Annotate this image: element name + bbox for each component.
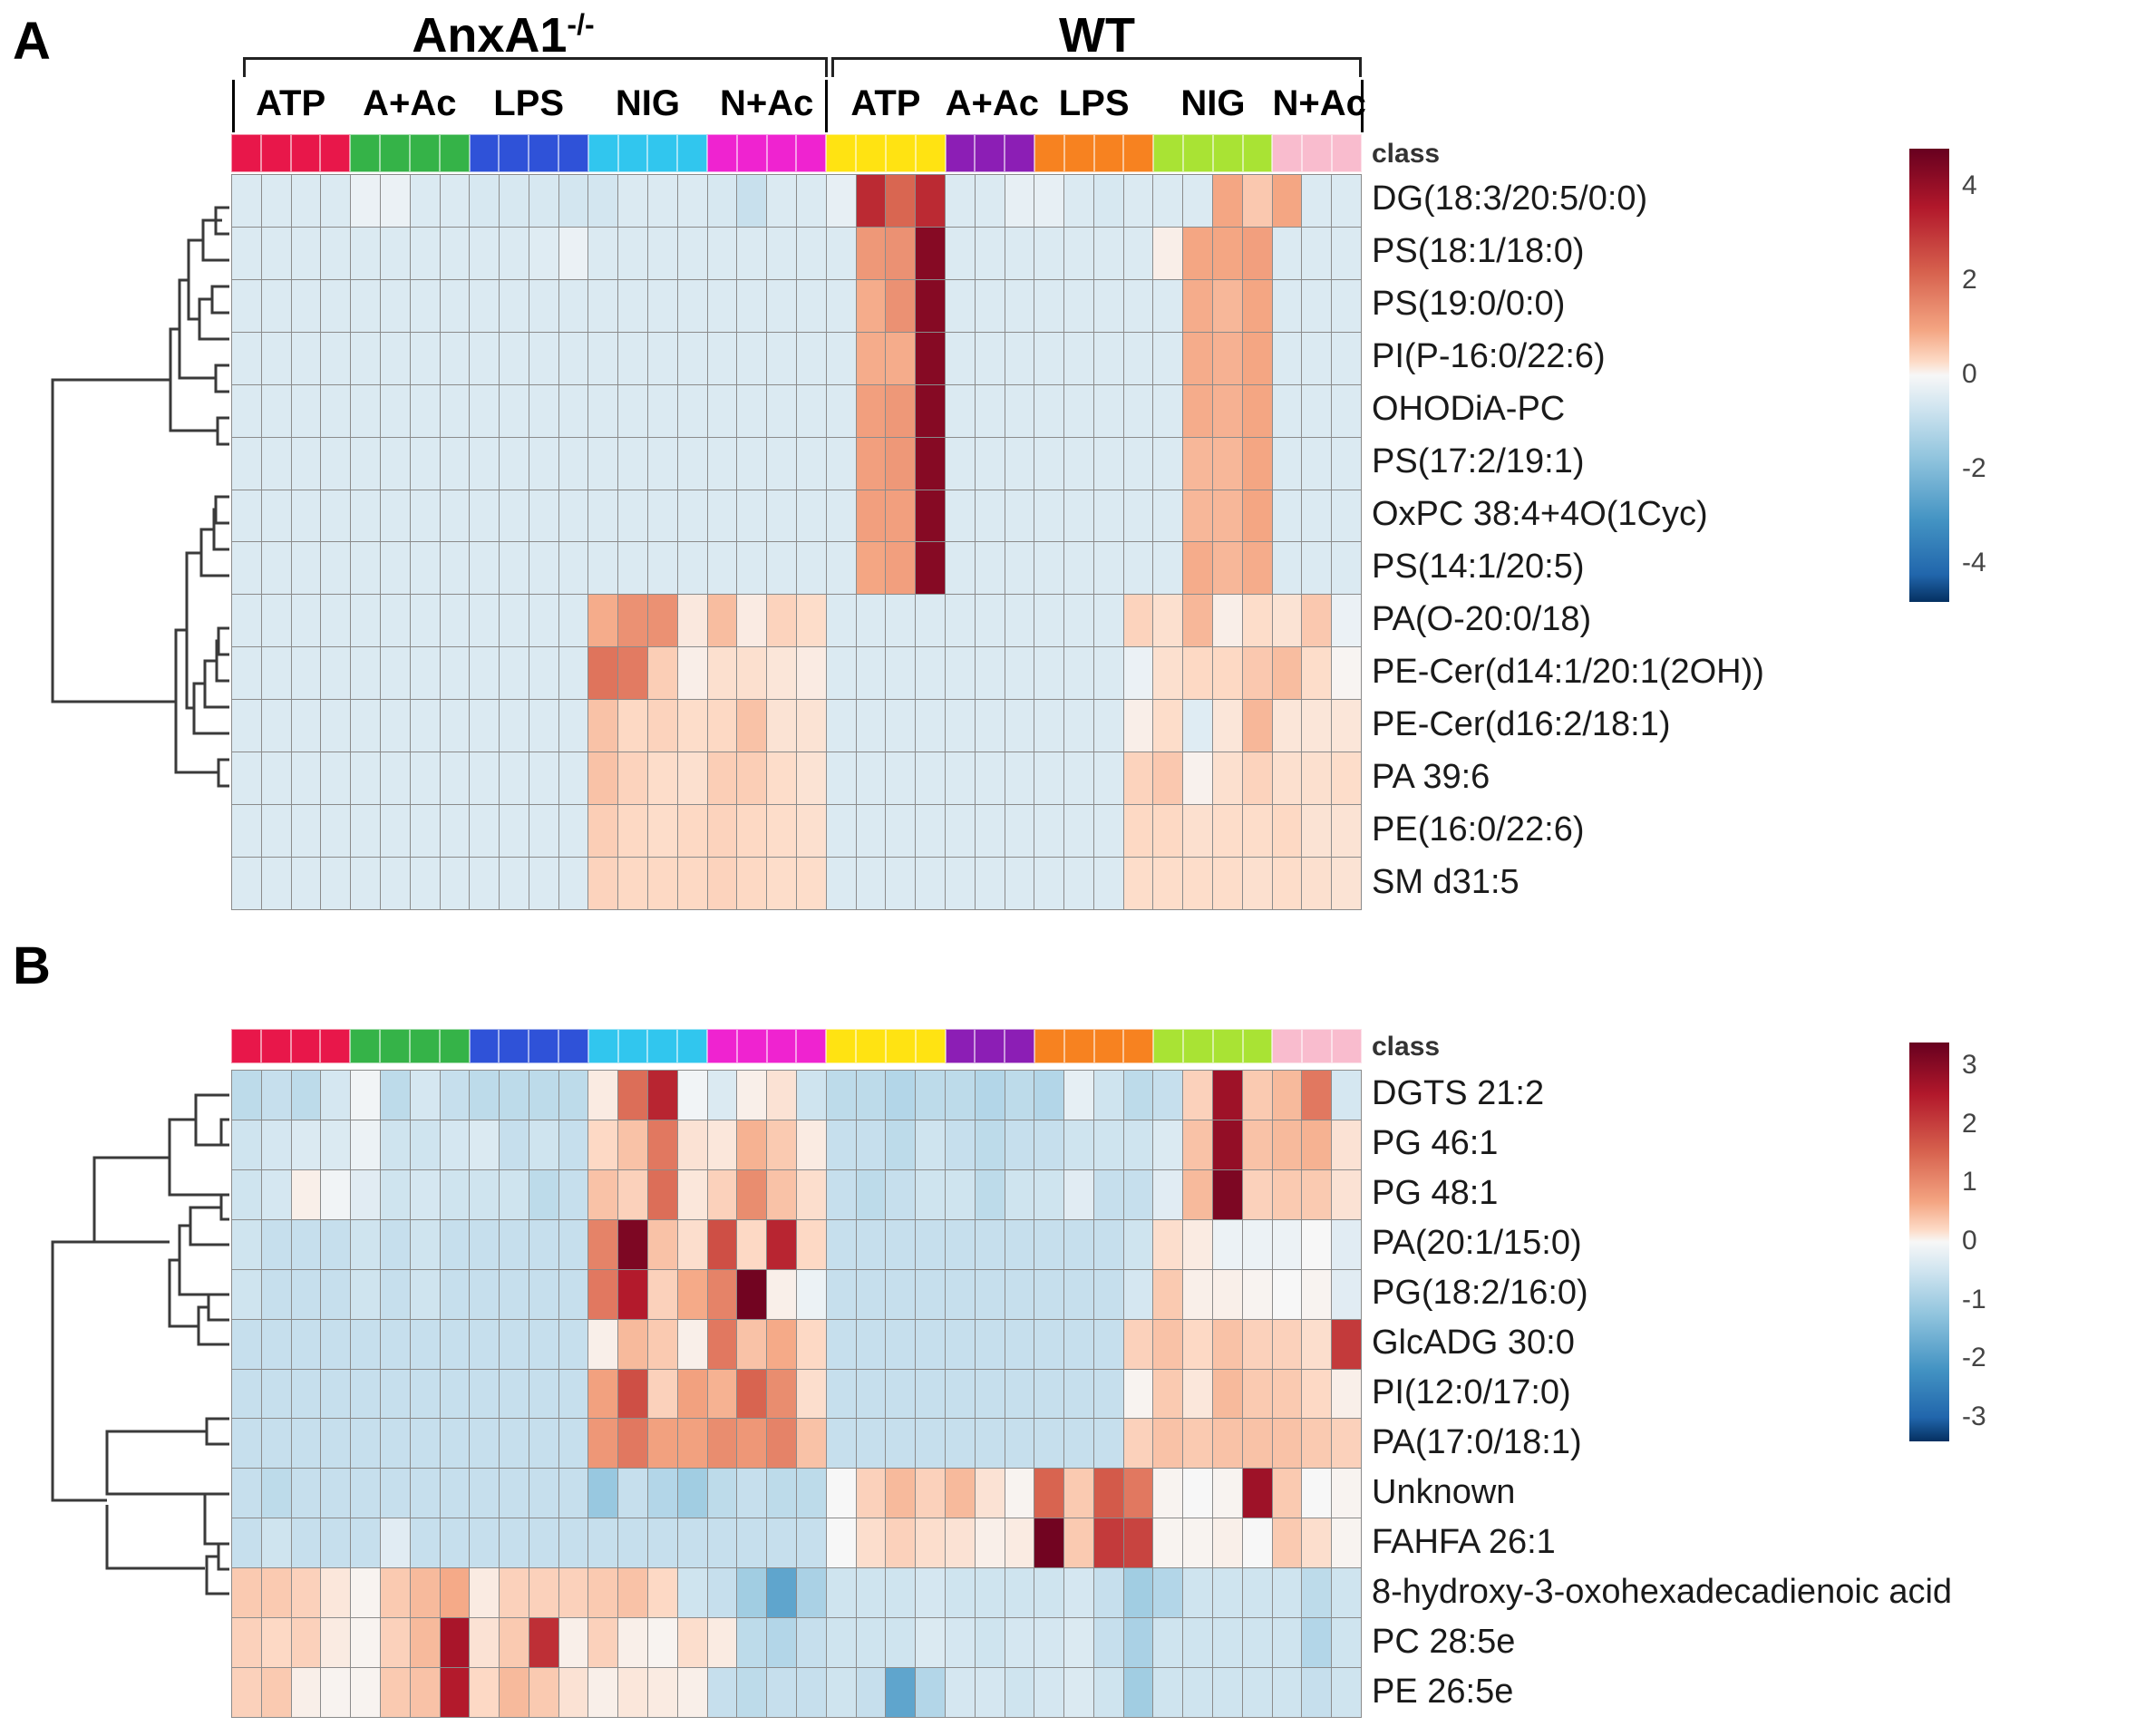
heatmap-cell [708, 542, 737, 594]
heatmap-cell [946, 490, 975, 542]
heatmap-cell [827, 1370, 856, 1419]
heatmap-cell [797, 333, 826, 384]
heatmap-cell [1094, 1370, 1123, 1419]
heatmap-cell [737, 542, 766, 594]
heatmap-cell [1094, 1469, 1123, 1518]
heatmap-cell [1005, 595, 1034, 646]
heatmap-cell [559, 1320, 588, 1369]
heatmap-cell [886, 1370, 915, 1419]
heatmap-cell [1094, 175, 1123, 227]
heatmap-cell [648, 1170, 677, 1219]
heatmap-cell [976, 1370, 1005, 1419]
heatmap-cell [1034, 1469, 1063, 1518]
heatmap-cell [1034, 1220, 1063, 1269]
heatmap-cell [1005, 858, 1034, 909]
class-swatch-AnxA1-nplusac [737, 1029, 767, 1063]
heatmap-cell [1005, 228, 1034, 279]
heatmap-cell [470, 1071, 499, 1120]
heatmap-cell [1005, 805, 1034, 857]
heatmap-cell [1034, 1270, 1063, 1319]
heatmap-cell [588, 1419, 617, 1468]
heatmap-cell [500, 280, 529, 332]
heatmap-cell [292, 228, 321, 279]
heatmap-a [231, 174, 1362, 910]
heatmap-cell [1005, 175, 1034, 227]
heatmap-cell [1124, 1618, 1153, 1667]
heatmap-cell [648, 175, 677, 227]
class-swatch-AnxA1-aplusac [440, 134, 470, 172]
heatmap-cell [1273, 752, 1302, 804]
heatmap-cell [708, 647, 737, 699]
heatmap-cell [321, 228, 350, 279]
heatmap-cell [648, 752, 677, 804]
heatmap-cell [559, 1469, 588, 1518]
heatmap-cell [262, 1220, 291, 1269]
heatmap-cell [1183, 175, 1212, 227]
heatmap-cell [381, 1220, 410, 1269]
heatmap-cell [292, 752, 321, 804]
heatmap-cell [618, 1469, 647, 1518]
heatmap-cell [857, 1170, 886, 1219]
heatmap-cell [618, 1071, 647, 1120]
heatmap-cell [886, 1518, 915, 1567]
heatmap-cell [618, 542, 647, 594]
heatmap-cell [411, 490, 440, 542]
heatmap-cell [1153, 1120, 1182, 1169]
heatmap-cell [529, 280, 558, 332]
heatmap-cell [588, 858, 617, 909]
heatmap-cell [857, 1618, 886, 1667]
heatmap-cell [827, 1618, 856, 1667]
heatmap-cell [500, 805, 529, 857]
heatmap-cell [321, 595, 350, 646]
heatmap-cell [1332, 1220, 1361, 1269]
heatmap-cell [232, 1419, 261, 1468]
heatmap-cell [500, 1419, 529, 1468]
heatmap-cell [262, 752, 291, 804]
heatmap-cell [886, 438, 915, 490]
heatmap-cell [321, 647, 350, 699]
heatmap-cell [1302, 175, 1331, 227]
heatmap-cell [1064, 647, 1093, 699]
heatmap-cell [441, 438, 470, 490]
heatmap-cell [292, 1419, 321, 1468]
heatmap-cell [381, 1370, 410, 1419]
heatmap-cell [708, 333, 737, 384]
heatmap-cell [827, 647, 856, 699]
heatmap-cell [678, 542, 707, 594]
heatmap-cell [708, 385, 737, 437]
heatmap-cell [588, 700, 617, 752]
class-swatch-WT-aplusac [946, 1029, 976, 1063]
heatmap-cell [1243, 1370, 1272, 1419]
row-label: DGTS 21:2 [1372, 1076, 1544, 1110]
heatmap-cell [1332, 1071, 1361, 1120]
heatmap-cell [648, 1320, 677, 1369]
heatmap-cell [737, 1220, 766, 1269]
heatmap-cell [262, 1469, 291, 1518]
heatmap-cell [262, 858, 291, 909]
heatmap-cell [797, 1419, 826, 1468]
heatmap-cell [1094, 333, 1123, 384]
heatmap-cell [946, 1320, 975, 1369]
class-swatch-AnxA1-nig [677, 134, 707, 172]
heatmap-cell [381, 438, 410, 490]
heatmap-cell [262, 1270, 291, 1319]
heatmap-cell [1124, 1419, 1153, 1468]
heatmap-cell [441, 385, 470, 437]
heatmap-cell [588, 1568, 617, 1617]
heatmap-cell [827, 1469, 856, 1518]
heatmap-cell [1124, 490, 1153, 542]
heatmap-cell [737, 858, 766, 909]
heatmap-cell [1124, 1120, 1153, 1169]
heatmap-cell [618, 752, 647, 804]
class-swatch-AnxA1-nig [647, 1029, 677, 1063]
heatmap-cell [559, 1518, 588, 1567]
heatmap-cell [470, 1618, 499, 1667]
heatmap-cell [1005, 280, 1034, 332]
heatmap-cell [232, 490, 261, 542]
heatmap-cell [529, 228, 558, 279]
heatmap-cell [1153, 438, 1182, 490]
row-label: OxPC 38:4+4O(1Cyc) [1372, 497, 1708, 531]
class-swatch-AnxA1-aplusac [380, 134, 410, 172]
heatmap-cell [441, 542, 470, 594]
heatmap-cell [411, 175, 440, 227]
heatmap-cell [1153, 647, 1182, 699]
heatmap-cell [1302, 1618, 1331, 1667]
heatmap-cell [529, 647, 558, 699]
heatmap-cell [827, 175, 856, 227]
heatmap-cell [1094, 858, 1123, 909]
heatmap-cell [946, 1518, 975, 1567]
heatmap-cell [1124, 752, 1153, 804]
heatmap-cell [1273, 1270, 1302, 1319]
heatmap-cell [1064, 333, 1093, 384]
heatmap-cell [1064, 805, 1093, 857]
heatmap-cell [1153, 1518, 1182, 1567]
heatmap-cell [411, 1370, 440, 1419]
heatmap-cell [1183, 1568, 1212, 1617]
row-label: Unknown [1372, 1475, 1515, 1509]
heatmap-cell [1064, 1618, 1093, 1667]
row-label: DG(18:3/20:5/0:0) [1372, 181, 1647, 216]
heatmap-cell [1064, 1469, 1093, 1518]
heatmap-cell [529, 1668, 558, 1717]
heatmap-cell [976, 1120, 1005, 1169]
heatmap-cell [1005, 385, 1034, 437]
heatmap-cell [1124, 1668, 1153, 1717]
heatmap-cell [708, 858, 737, 909]
row-label: GlcADG 30:0 [1372, 1325, 1575, 1360]
heatmap-cell [1213, 1419, 1242, 1468]
class-swatch-AnxA1-nig [618, 134, 648, 172]
heatmap-cell [1183, 1220, 1212, 1269]
heatmap-cell [1332, 1270, 1361, 1319]
heatmap-cell [1213, 1568, 1242, 1617]
heatmap-cell [767, 752, 796, 804]
heatmap-cell [946, 1170, 975, 1219]
heatmap-cell [946, 858, 975, 909]
heatmap-cell [1302, 1120, 1331, 1169]
class-swatch-AnxA1-nig [588, 134, 618, 172]
heatmap-cell [1094, 595, 1123, 646]
heatmap-cell [500, 1220, 529, 1269]
heatmap-cell [588, 1170, 617, 1219]
heatmap-cell [292, 542, 321, 594]
heatmap-cell [618, 385, 647, 437]
heatmap-cell [886, 700, 915, 752]
heatmap-cell [500, 1370, 529, 1419]
heatmap-cell [1332, 438, 1361, 490]
heatmap-cell [500, 385, 529, 437]
heatmap-cell [1332, 1120, 1361, 1169]
heatmap-cell [618, 647, 647, 699]
heatmap-cell [470, 438, 499, 490]
heatmap-cell [916, 333, 945, 384]
heatmap-cell [381, 647, 410, 699]
heatmap-cell [441, 805, 470, 857]
heatmap-cell [1034, 490, 1063, 542]
heatmap-cell [737, 490, 766, 542]
heatmap-cell [292, 1220, 321, 1269]
heatmap-cell [976, 280, 1005, 332]
heatmap-cell [1064, 490, 1093, 542]
heatmap-cell [470, 385, 499, 437]
heatmap-cell [351, 228, 380, 279]
heatmap-cell [737, 1568, 766, 1617]
heatmap-cell [648, 700, 677, 752]
heatmap-cell [1034, 595, 1063, 646]
colorbar-gradient-b [1909, 1043, 1949, 1441]
heatmap-cell [1153, 1469, 1182, 1518]
heatmap-cell [500, 858, 529, 909]
heatmap-cell [1124, 385, 1153, 437]
class-swatch-WT-lps [1064, 1029, 1094, 1063]
heatmap-cell [321, 1469, 350, 1518]
heatmap-cell [321, 1270, 350, 1319]
genotype-bracket-anxa1 [243, 57, 828, 77]
heatmap-cell [678, 1320, 707, 1369]
heatmap-cell [559, 805, 588, 857]
heatmap-cell [292, 805, 321, 857]
heatmap-cell [1332, 1518, 1361, 1567]
heatmap-cell [737, 752, 766, 804]
heatmap-cell [648, 858, 677, 909]
heatmap-cell [648, 490, 677, 542]
heatmap-cell [321, 542, 350, 594]
heatmap-cell [232, 1469, 261, 1518]
heatmap-cell [1124, 542, 1153, 594]
heatmap-cell [767, 858, 796, 909]
heatmap-cell [886, 175, 915, 227]
heatmap-cell [708, 700, 737, 752]
heatmap-cell [946, 385, 975, 437]
heatmap-cell [1243, 805, 1272, 857]
heatmap-cell [470, 1419, 499, 1468]
heatmap-cell [1124, 1469, 1153, 1518]
heatmap-cell [1183, 858, 1212, 909]
heatmap-cell [1124, 1220, 1153, 1269]
heatmap-cell [588, 1270, 617, 1319]
heatmap-cell [351, 1518, 380, 1567]
heatmap-cell [737, 1120, 766, 1169]
heatmap-cell [1332, 805, 1361, 857]
heatmap-cell [648, 1270, 677, 1319]
heatmap-cell [470, 1568, 499, 1617]
heatmap-cell [1213, 1120, 1242, 1169]
heatmap-cell [1124, 280, 1153, 332]
heatmap-cell [351, 595, 380, 646]
heatmap-cell [1183, 752, 1212, 804]
heatmap-cell [262, 175, 291, 227]
heatmap-cell [767, 1518, 796, 1567]
heatmap-cell [797, 385, 826, 437]
heatmap-cell [500, 1320, 529, 1369]
heatmap-cell [470, 228, 499, 279]
class-swatch-AnxA1-lps [558, 1029, 588, 1063]
heatmap-cell [857, 175, 886, 227]
class-swatch-WT-nplusac [1332, 134, 1362, 172]
heatmap-cell [1273, 385, 1302, 437]
heatmap-cell [1273, 858, 1302, 909]
heatmap-cell [1153, 1419, 1182, 1468]
heatmap-cell [381, 1120, 410, 1169]
heatmap-cell [678, 1120, 707, 1169]
heatmap-cell [1034, 228, 1063, 279]
heatmap-cell [1183, 490, 1212, 542]
colorbar-gradient-a [1909, 149, 1949, 602]
heatmap-cell [648, 1668, 677, 1717]
class-swatch-AnxA1-lps [529, 134, 558, 172]
heatmap-cell [708, 1518, 737, 1567]
genotype-separator-tick [1361, 80, 1364, 132]
heatmap-cell [588, 1120, 617, 1169]
treatment-label-AnxA1-nig: NIG [588, 83, 707, 124]
heatmap-cell [262, 1071, 291, 1120]
heatmap-cell [321, 333, 350, 384]
heatmap-cell [500, 438, 529, 490]
heatmap-cell [1094, 1618, 1123, 1667]
heatmap-cell [1034, 1071, 1063, 1120]
heatmap-cell [1034, 542, 1063, 594]
heatmap-cell [1302, 752, 1331, 804]
heatmap-cell [678, 700, 707, 752]
heatmap-cell [618, 1518, 647, 1567]
heatmap-cell [1302, 1270, 1331, 1319]
heatmap-cell [1183, 1419, 1212, 1468]
heatmap-cell [1183, 1170, 1212, 1219]
heatmap-cell [618, 228, 647, 279]
heatmap-cell [1094, 280, 1123, 332]
heatmap-cell [916, 228, 945, 279]
heatmap-cell [1005, 438, 1034, 490]
heatmap-cell [1064, 1370, 1093, 1419]
heatmap-cell [1332, 228, 1361, 279]
heatmap-cell [857, 700, 886, 752]
heatmap-cell [232, 858, 261, 909]
heatmap-cell [1034, 280, 1063, 332]
class-swatch-WT-nig [1183, 1029, 1213, 1063]
heatmap-cell [708, 1668, 737, 1717]
heatmap-cell [381, 700, 410, 752]
heatmap-cell [916, 542, 945, 594]
heatmap-cell [381, 752, 410, 804]
class-swatch-WT-atp [856, 1029, 886, 1063]
heatmap-cell [648, 333, 677, 384]
heatmap-cell [262, 700, 291, 752]
heatmap-cell [441, 1170, 470, 1219]
heatmap-cell [1034, 858, 1063, 909]
heatmap-cell [916, 647, 945, 699]
heatmap-cell [886, 1668, 915, 1717]
heatmap-cell [529, 438, 558, 490]
heatmap-cell [1034, 752, 1063, 804]
heatmap-cell [588, 1618, 617, 1667]
class-colorbar-b [231, 1029, 1362, 1063]
heatmap-cell [1094, 1270, 1123, 1319]
class-swatch-AnxA1-nplusac [796, 134, 826, 172]
heatmap-cell [737, 1170, 766, 1219]
heatmap-cell [381, 542, 410, 594]
heatmap-cell [559, 1220, 588, 1269]
heatmap-cell [470, 1220, 499, 1269]
heatmap-cell [381, 1518, 410, 1567]
heatmap-cell [529, 1120, 558, 1169]
heatmap-cell [976, 1518, 1005, 1567]
heatmap-cell [678, 647, 707, 699]
heatmap-cell [1183, 280, 1212, 332]
heatmap-cell [292, 385, 321, 437]
heatmap-cell [559, 542, 588, 594]
heatmap-cell [1213, 333, 1242, 384]
heatmap-cell [1302, 647, 1331, 699]
heatmap-cell [1332, 280, 1361, 332]
class-swatch-AnxA1-nplusac [767, 134, 797, 172]
heatmap-cell [381, 228, 410, 279]
heatmap-cell [1243, 1419, 1272, 1468]
heatmap-cell [857, 490, 886, 542]
heatmap-cell [1153, 805, 1182, 857]
heatmap-cell [470, 805, 499, 857]
heatmap-cell [648, 280, 677, 332]
heatmap-cell [886, 595, 915, 646]
heatmap-cell [470, 1518, 499, 1567]
heatmap-cell [797, 1120, 826, 1169]
heatmap-cell [1183, 1320, 1212, 1369]
heatmap-cell [441, 228, 470, 279]
heatmap-cell [588, 752, 617, 804]
heatmap-cell [618, 595, 647, 646]
colorbar-tick-label: 0 [1962, 1226, 1977, 1256]
heatmap-cell [857, 1668, 886, 1717]
heatmap-cell [618, 1170, 647, 1219]
heatmap-cell [916, 1320, 945, 1369]
heatmap-cell [588, 490, 617, 542]
heatmap-cell [232, 647, 261, 699]
heatmap-cell [1213, 385, 1242, 437]
heatmap-cell [946, 1469, 975, 1518]
heatmap-cell [678, 1469, 707, 1518]
heatmap-cell [381, 858, 410, 909]
heatmap-cell [916, 1370, 945, 1419]
heatmap-cell [1273, 1618, 1302, 1667]
heatmap-cell [737, 228, 766, 279]
heatmap-cell [262, 595, 291, 646]
heatmap-cell [559, 700, 588, 752]
colorbar-tick-label: -3 [1962, 1401, 1986, 1432]
